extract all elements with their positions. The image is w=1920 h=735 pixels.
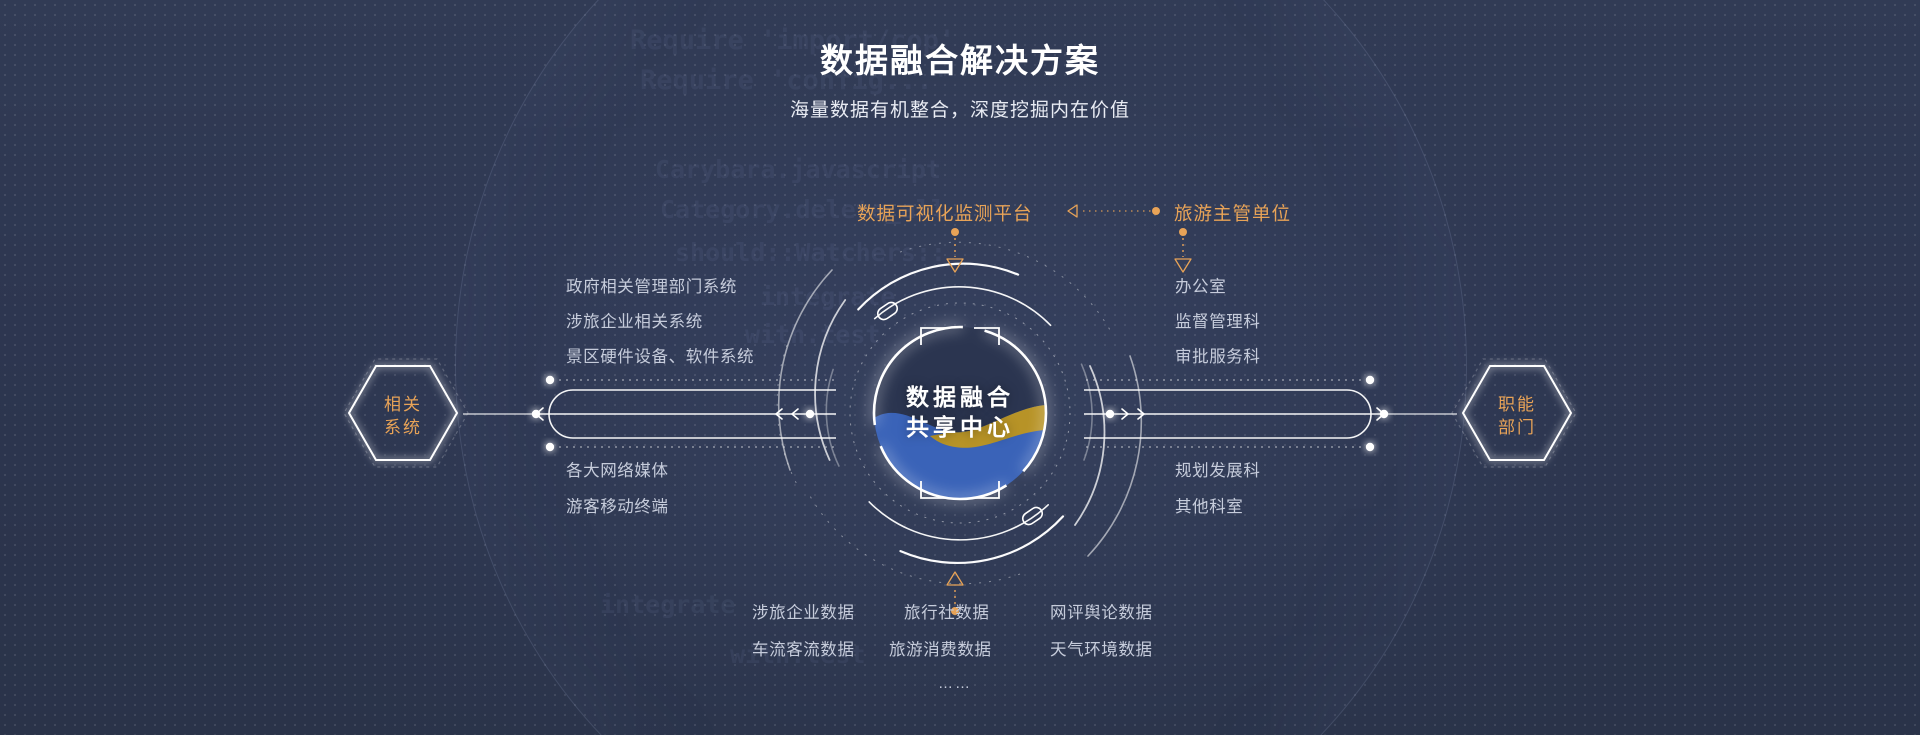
right-flow-arrows <box>1122 409 1144 419</box>
left-item-0[interactable]: 政府相关管理部门系统 <box>566 279 737 296</box>
code-line: should::Watchers:: <box>675 238 946 267</box>
core-label-line2: 共享中心 <box>0 412 1920 442</box>
core-ring-arcs-160 <box>815 300 1104 525</box>
right-item-4[interactable]: 其他科室 <box>1175 499 1243 516</box>
infographic-stage: Require 'import/cop' Require 'config...'… <box>0 0 1920 735</box>
left-item-3[interactable]: 各大网络媒体 <box>566 463 669 480</box>
bottom-item-r1c2[interactable]: 网评舆论数据 <box>1050 605 1153 622</box>
left-hex-arrowhead <box>536 408 543 420</box>
right-item-3[interactable]: 规划发展科 <box>1175 463 1261 480</box>
header: 数据融合解决方案 海量数据有机整合，深度挖掘内在价值 <box>0 0 1920 122</box>
bottom-item-r2c2[interactable]: 天气环境数据 <box>1050 642 1153 659</box>
left-hexagon-label-line1: 相关 <box>349 393 457 416</box>
core-ring-arcs-143 <box>858 264 1063 563</box>
bottom-item-r1c1[interactable]: 旅行社数据 <box>904 605 990 622</box>
left-flow-arrows <box>776 409 798 419</box>
right-hex-arrowhead <box>1377 408 1384 420</box>
left-feeder-dots <box>532 376 554 451</box>
left-item-4[interactable]: 游客移动终端 <box>566 499 669 516</box>
core-label: 数据融合 共享中心 <box>0 382 1920 442</box>
bottom-ellipsis: …… <box>938 675 972 692</box>
right-hexagon-label-line2: 部门 <box>1463 416 1571 439</box>
core-wave-gold <box>930 405 1046 448</box>
top-right-vertical-connector <box>1175 228 1191 272</box>
core-ring-outer-196 <box>779 270 1142 556</box>
code-line: integrate <box>600 590 735 619</box>
label-data-visualization-platform[interactable]: 数据可视化监测平台 <box>857 200 1033 226</box>
core-ring-arcs-128 <box>826 287 1092 540</box>
page-title: 数据融合解决方案 <box>0 0 1920 81</box>
top-left-vertical-connector <box>947 228 963 272</box>
left-hexagon-label[interactable]: 相关 系统 <box>349 393 457 439</box>
ring-capsule-marker <box>875 300 1044 527</box>
left-item-2[interactable]: 景区硬件设备、软件系统 <box>566 349 754 366</box>
core-ring-dotted-110 <box>850 303 1070 523</box>
code-line: integrate <box>760 282 895 311</box>
left-connector-bracket <box>536 390 836 438</box>
page-subtitle: 海量数据有机整合，深度挖掘内在价值 <box>0 81 1920 122</box>
right-arrow-dot <box>1106 410 1114 418</box>
right-hexagon-label[interactable]: 职能 部门 <box>1463 393 1571 439</box>
core-label-line1: 数据融合 <box>0 382 1920 412</box>
core-wave-blue <box>874 405 1046 505</box>
bottom-item-r2c0[interactable]: 车流客流数据 <box>752 642 855 659</box>
bottom-item-r1c0[interactable]: 涉旅企业数据 <box>752 605 855 622</box>
core-inner-ring <box>874 327 1046 499</box>
top-horizontal-connector <box>1068 205 1160 217</box>
core-ring-dotted-176 <box>777 242 1110 583</box>
left-item-1[interactable]: 涉旅企业相关系统 <box>566 314 703 331</box>
right-connector-bracket <box>1084 390 1384 438</box>
label-tourism-authority[interactable]: 旅游主管单位 <box>1174 200 1291 226</box>
left-hexagon-label-line2: 系统 <box>349 416 457 439</box>
right-dotted-feeders <box>1084 380 1368 447</box>
code-line: Carybara.javascript <box>655 155 941 184</box>
left-dotted-feeders <box>552 380 836 447</box>
left-arrow-dot <box>806 410 814 418</box>
right-item-0[interactable]: 办公室 <box>1175 279 1226 296</box>
right-feeder-dots <box>1366 376 1388 451</box>
right-hexagon-label-line1: 职能 <box>1463 393 1571 416</box>
bottom-item-r2c1[interactable]: 旅游消费数据 <box>889 642 992 659</box>
right-item-1[interactable]: 监督管理科 <box>1175 314 1261 331</box>
code-line: with.test <box>745 320 880 349</box>
right-item-2[interactable]: 审批服务科 <box>1175 349 1261 366</box>
core-circle <box>874 327 1046 505</box>
